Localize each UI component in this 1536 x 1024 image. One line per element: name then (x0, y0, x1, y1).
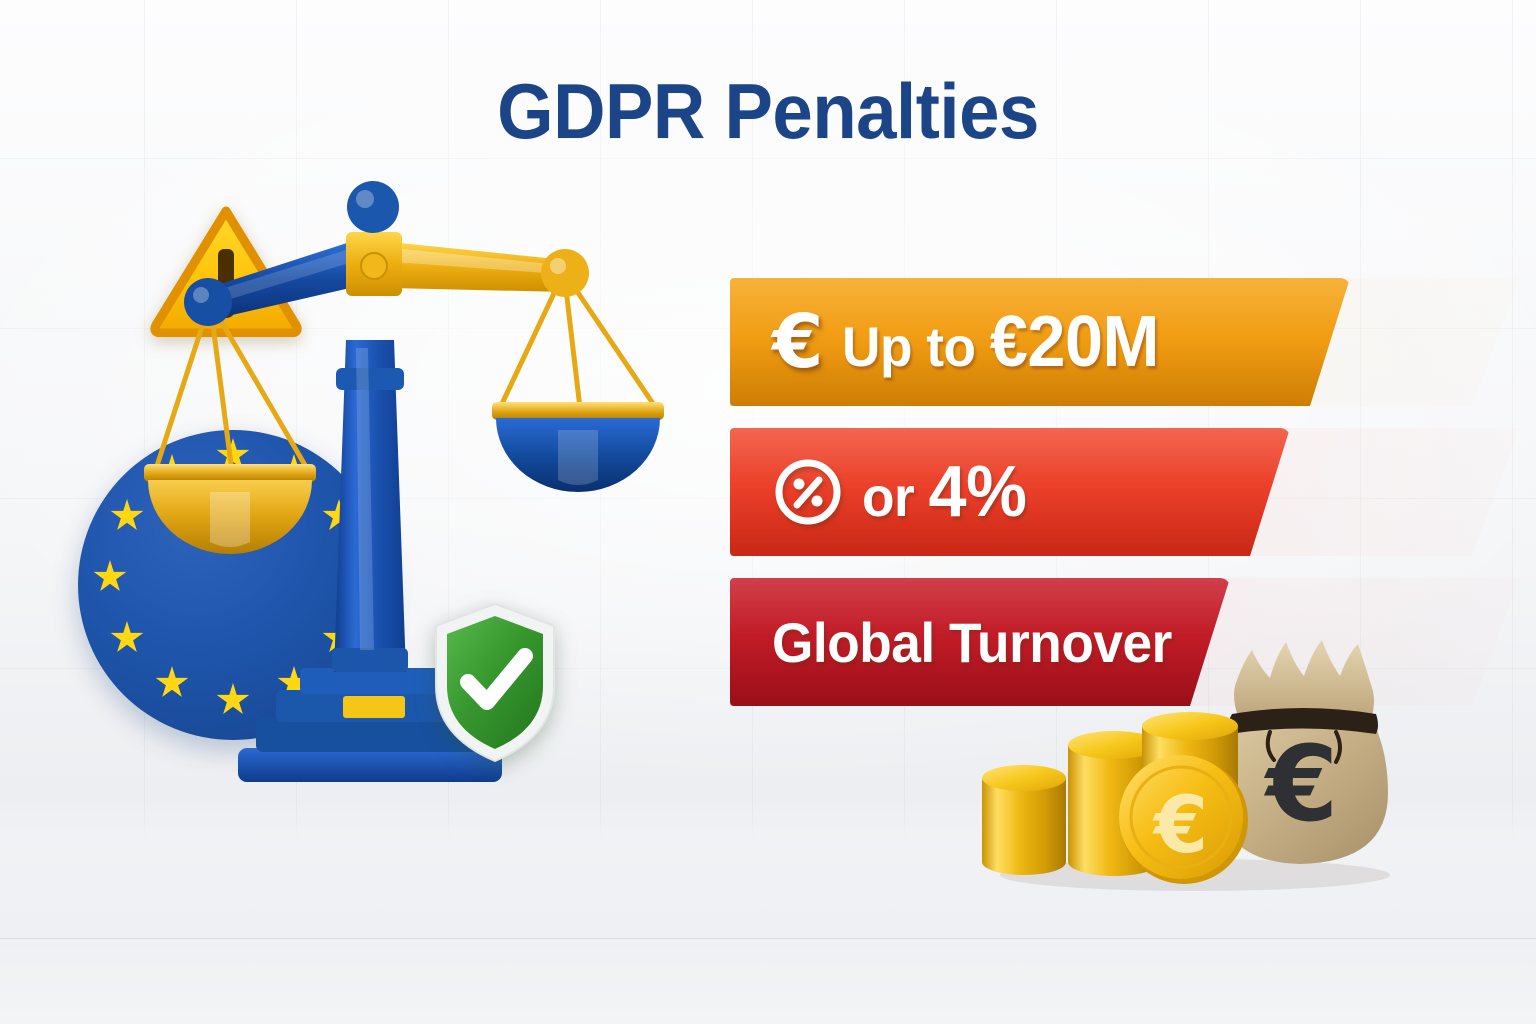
banner-label-fine-percentage: or 4% (862, 451, 1026, 533)
percent-circle-icon (772, 456, 844, 528)
infographic-canvas: GDPR Penalties (0, 0, 1536, 1024)
bag-euro-symbol: € (1264, 723, 1338, 845)
shield-check-icon (430, 600, 560, 765)
coin-stack-left (982, 765, 1066, 875)
coin-euro-symbol: € (1152, 781, 1208, 871)
euro-money-group: € (980, 630, 1400, 900)
banner-value: €20M (989, 302, 1158, 382)
floor-horizon-line (0, 938, 1536, 939)
euro-icon: € (772, 305, 824, 379)
banner-prefix: or (862, 465, 929, 528)
banner-prefix: Up to (842, 315, 990, 378)
euro-coin-large: € (1119, 755, 1248, 884)
banner-row-fine-cap: € Up to €20M (730, 278, 1520, 406)
balance-scale (60, 180, 720, 840)
banner-fine-cap[interactable]: € Up to €20M (730, 278, 1350, 406)
banner-value: 4% (929, 452, 1027, 532)
page-title: GDPR Penalties (54, 72, 1482, 150)
euro-glyph: € (772, 305, 824, 379)
banner-row-fine-percentage: or 4% (730, 428, 1520, 556)
justice-scale-illustration (60, 180, 720, 840)
banner-label-fine-cap: Up to €20M (842, 301, 1159, 383)
banner-fine-percentage[interactable]: or 4% (730, 428, 1290, 556)
